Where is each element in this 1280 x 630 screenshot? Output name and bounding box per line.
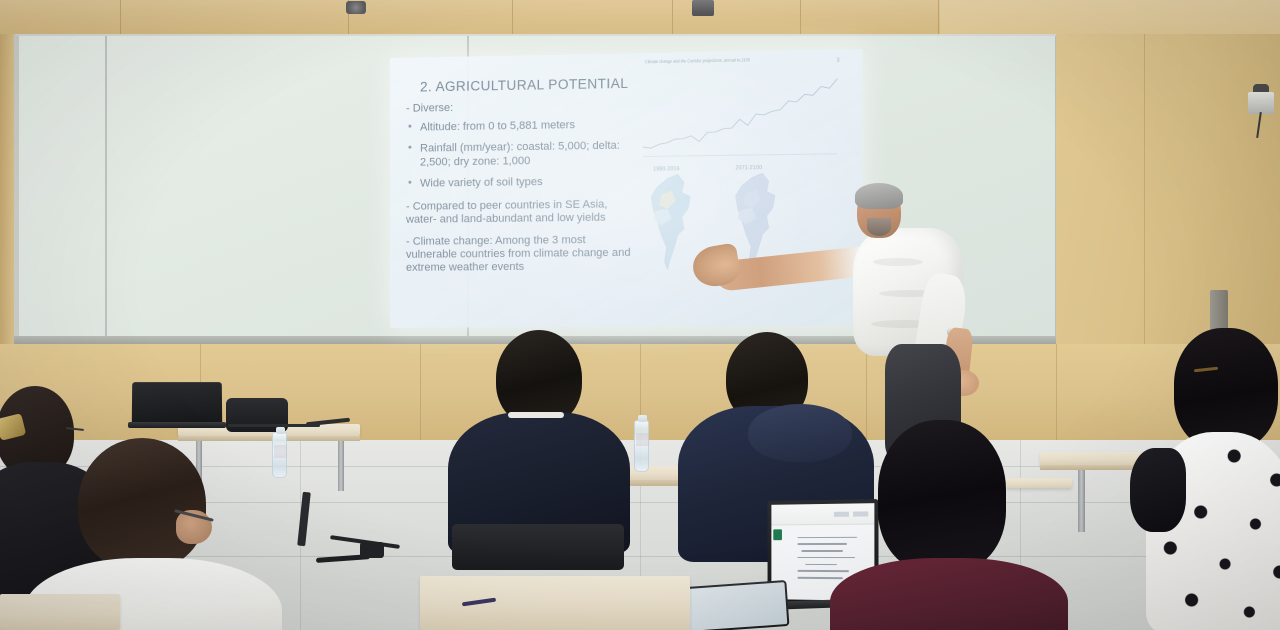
projected-slide: 2. AGRICULTURAL POTENTIAL - Diverse: Alt… <box>390 49 863 328</box>
map-projection <box>736 173 775 269</box>
ceiling-speaker-icon <box>346 1 366 14</box>
map-label-historical: 1980-2016 <box>653 166 679 172</box>
wall-mount-bracket-icon <box>1248 92 1274 114</box>
shirt-collar <box>508 412 564 418</box>
laptop-base <box>128 422 226 428</box>
slide-bullet-item: Rainfall (mm/year): coastal: 5,000; delt… <box>406 140 639 170</box>
slide-lead-text: - Diverse: <box>406 99 639 115</box>
desk-front-center <box>420 576 690 630</box>
map-historical <box>651 174 690 270</box>
slide-chart-caption: Climate change and the Corridor projecti… <box>645 55 844 64</box>
slide-paragraph: - Climate change: Among the 3 most vulne… <box>406 233 639 275</box>
slide-page-number: 3 <box>837 58 840 64</box>
presenter <box>845 186 1025 456</box>
desk-leg <box>1078 470 1085 532</box>
presenter-beard <box>867 218 891 236</box>
slide-bullet-list: Altitude: from 0 to 5,881 meters Rainfal… <box>406 118 639 191</box>
map-label-projection: 2071-2100 <box>736 165 763 171</box>
attendee-maroon-sweater <box>848 420 1068 630</box>
attendee-head <box>78 438 206 570</box>
spreadsheet-app-icon <box>773 529 782 540</box>
slide-body: - Diverse: Altitude: from 0 to 5,881 met… <box>406 99 639 276</box>
ceiling-camera-icon <box>692 0 714 16</box>
slide-bullet-item: Wide variety of soil types <box>406 175 639 191</box>
laptop-back-left-closed[interactable] <box>132 382 222 424</box>
lecture-room-photo: 2. AGRICULTURAL POTENTIAL - Diverse: Alt… <box>0 0 1280 630</box>
chart-svg <box>641 72 840 169</box>
power-adapter <box>360 542 384 558</box>
attendee-right-polka-dot <box>1152 328 1280 630</box>
desk-front-left <box>0 594 120 630</box>
right-wood-wall <box>1056 34 1280 372</box>
attendee-arm <box>1130 448 1186 532</box>
hood <box>748 404 852 462</box>
attendee-torso <box>830 558 1068 630</box>
chair-center <box>452 524 624 570</box>
climate-line-chart <box>641 72 840 169</box>
slide-bullet-item: Altitude: from 0 to 5,881 meters <box>406 118 639 135</box>
presenter-hair <box>855 183 903 209</box>
slide-paragraph: - Compared to peer countries in SE Asia,… <box>406 198 639 227</box>
desk-leg <box>338 441 344 491</box>
attendee-head <box>878 420 1006 572</box>
